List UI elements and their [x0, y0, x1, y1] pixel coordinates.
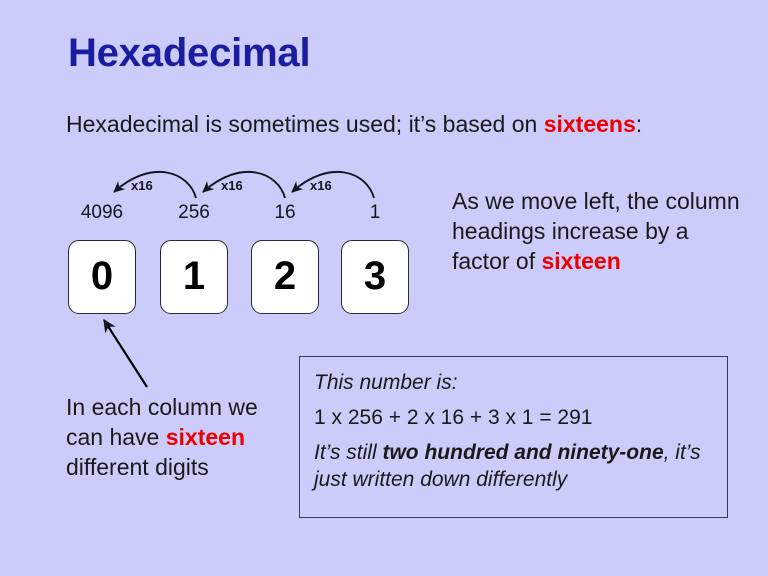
digit-box-256-column[interactable]: 1 — [160, 240, 228, 314]
pointer-arrow-to-first-digit — [104, 320, 147, 387]
multiply-label-3: x16 — [310, 178, 332, 193]
left-note-text-after: different digits — [66, 454, 209, 480]
column-heading-1: 1 — [341, 202, 409, 224]
calculation-box: This number is: 1 x 256 + 2 x 16 + 3 x 1… — [299, 356, 728, 518]
column-heading-16: 16 — [251, 202, 319, 224]
multiply-label-1: x16 — [131, 178, 153, 193]
multiply-arrow-1 — [114, 172, 196, 198]
calc-box-conclusion: It’s still two hundred and ninety-one, i… — [314, 439, 713, 493]
left-note-accent-sixteen: sixteen — [166, 424, 245, 450]
calc-box-heading: This number is: — [314, 369, 713, 396]
right-explanation-note: As we move left, the column headings inc… — [452, 186, 742, 276]
calc-conclusion-bold: two hundred and ninety-one — [382, 441, 663, 464]
column-heading-4096: 4096 — [68, 202, 136, 224]
right-note-accent-sixteen: sixteen — [541, 248, 620, 274]
calc-conclusion-before: It’s still — [314, 441, 382, 464]
column-heading-256: 256 — [160, 202, 228, 224]
digit-value-1: 1 — [183, 256, 205, 296]
intro-accent-sixteens: sixteens — [544, 111, 636, 137]
digit-value-3: 3 — [364, 256, 386, 296]
digit-value-0: 0 — [91, 256, 113, 296]
left-explanation-note: In each column we can have sixteen diffe… — [66, 392, 296, 482]
intro-sentence: Hexadecimal is sometimes used; it’s base… — [66, 111, 642, 138]
digit-value-2: 2 — [274, 256, 296, 296]
page-title: Hexadecimal — [68, 31, 310, 76]
multiply-label-2: x16 — [221, 178, 243, 193]
multiply-arrow-3 — [292, 172, 374, 198]
intro-text-before: Hexadecimal is sometimes used; it’s base… — [66, 111, 544, 137]
digit-box-4096-column[interactable]: 0 — [68, 240, 136, 314]
multiply-arrow-2 — [203, 172, 285, 198]
calc-box-equation: 1 x 256 + 2 x 16 + 3 x 1 = 291 — [314, 404, 713, 431]
slide-canvas: Hexadecimal Hexadecimal is sometimes use… — [0, 0, 768, 576]
digit-box-16-column[interactable]: 2 — [251, 240, 319, 314]
intro-text-after: : — [636, 111, 642, 137]
digit-box-1-column[interactable]: 3 — [341, 240, 409, 314]
